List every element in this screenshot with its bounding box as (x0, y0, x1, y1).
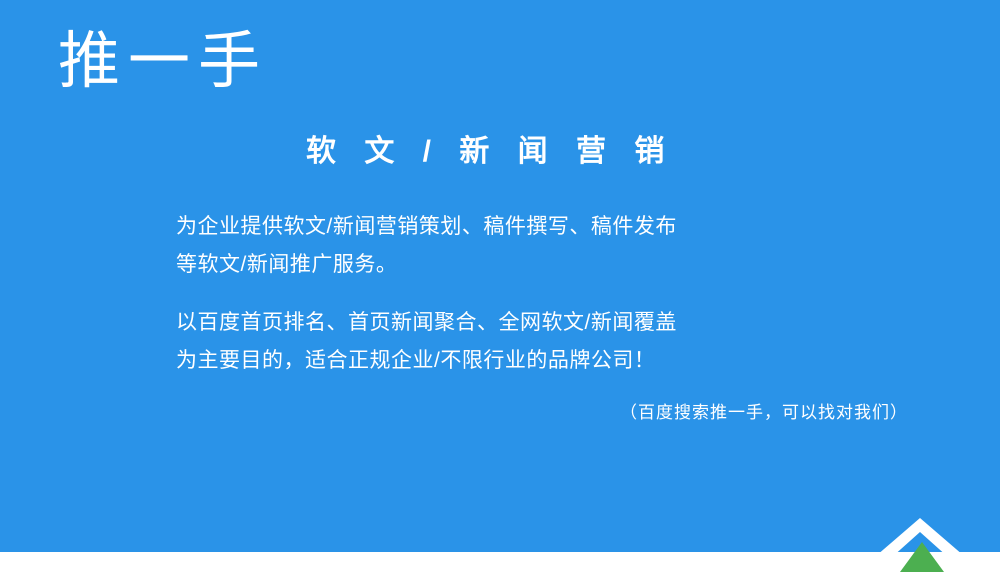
brand-logo: 推一手 (58, 28, 268, 96)
description-line: 等软文/新闻推广服务。 (176, 246, 677, 284)
chevron-up-icon (900, 542, 944, 572)
description-line: 以百度首页排名、首页新闻聚合、全网软文/新闻覆盖 (176, 304, 677, 342)
footer-strip (0, 552, 1000, 574)
search-hint-note: （百度搜索推一手，可以找对我们） (620, 398, 908, 423)
description-line: 为主要目的，适合正规企业/不限行业的品牌公司！ (176, 342, 677, 380)
description-line: 为企业提供软文/新闻营销策划、稿件撰写、稿件发布 (176, 208, 677, 246)
description-block-1: 为企业提供软文/新闻营销策划、稿件撰写、稿件发布 等软文/新闻推广服务。 (176, 208, 677, 284)
slide-canvas: 推一手 软 文 / 新 闻 营 销 为企业提供软文/新闻营销策划、稿件撰写、稿件… (0, 0, 1000, 574)
slide-subtitle: 软 文 / 新 闻 营 销 (306, 126, 674, 170)
description-block-2: 以百度首页排名、首页新闻聚合、全网软文/新闻覆盖 为主要目的，适合正规企业/不限… (176, 304, 677, 380)
